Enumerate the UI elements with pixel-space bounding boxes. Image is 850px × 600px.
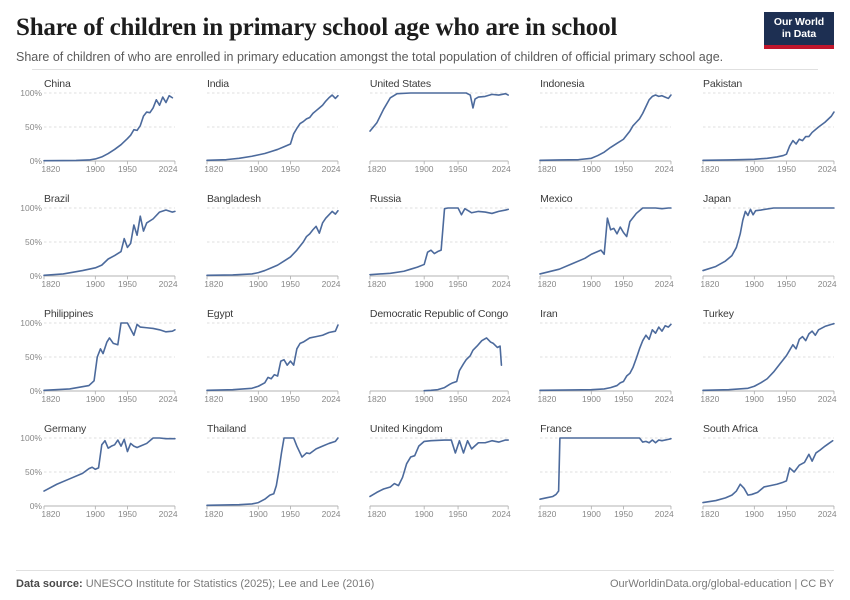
x-tick-label: 1820 [367,394,386,404]
x-tick-label: 1950 [448,164,467,174]
x-tick-label: 1900 [745,509,764,519]
plot-area: 0%50%100% [44,208,175,276]
chart-panel[interactable]: France1820190019502024 [512,423,671,538]
x-tick-label: 2024 [818,164,837,174]
panel-title: United States [370,78,508,90]
data-line [424,338,501,391]
x-tick-label: 1950 [614,394,633,404]
x-tick-label: 1820 [367,279,386,289]
x-tick-label: 1900 [249,509,268,519]
x-tick-label: 1900 [86,164,105,174]
chart-panel[interactable]: Pakistan1820190019502024 [675,78,834,193]
chart-page: Share of children in primary school age … [0,0,850,600]
x-axis-labels: 1820190019502024 [703,508,834,522]
x-tick-label: 2024 [159,279,178,289]
x-axis-labels: 1820190019502024 [540,278,671,292]
data-line [703,208,834,271]
x-tick-label: 1900 [249,279,268,289]
data-line [540,208,671,274]
y-tick-label: 0% [30,501,42,511]
chart-footer: Data source: UNESCO Institute for Statis… [16,570,834,590]
data-line [703,112,834,160]
data-source-text: UNESCO Institute for Statistics (2025); … [83,578,375,590]
chart-panel[interactable]: Democratic Republic of Congo182019001950… [342,308,508,423]
plot-area [370,208,508,276]
y-axis-labels: 0%50%100% [16,208,42,276]
x-tick-label: 2024 [322,394,341,404]
x-tick-label: 2024 [492,394,511,404]
panel-title: Egypt [207,308,338,320]
plot-area [207,438,338,506]
panel-title: Philippines [44,308,175,320]
plot-area [207,93,338,161]
y-tick-label: 100% [20,203,42,213]
data-line [540,438,671,499]
chart-panel[interactable]: United States1820190019502024 [342,78,508,193]
chart-panel[interactable]: Japan1820190019502024 [675,193,834,308]
x-tick-label: 1820 [537,279,556,289]
header-divider [32,69,818,70]
plot-area [540,93,671,161]
x-tick-label: 1820 [41,394,60,404]
x-tick-label: 1950 [448,394,467,404]
logo-line-1: Our World [769,16,829,28]
chart-panel[interactable]: United Kingdom1820190019502024 [342,423,508,538]
panel-title: Japan [703,193,834,205]
data-line [370,208,508,275]
panel-title: Germany [44,423,175,435]
x-axis-labels: 1820190019502024 [44,393,175,407]
x-tick-label: 1900 [415,394,434,404]
x-axis-labels: 1820190019502024 [540,163,671,177]
y-tick-label: 0% [30,271,42,281]
x-tick-label: 1820 [41,279,60,289]
plot-area [703,93,834,161]
x-tick-label: 1950 [777,394,796,404]
x-tick-label: 2024 [818,279,837,289]
y-tick-label: 50% [25,237,42,247]
x-tick-label: 1900 [86,394,105,404]
x-tick-label: 1950 [448,279,467,289]
x-tick-label: 1820 [367,509,386,519]
plot-area [370,438,508,506]
x-tick-label: 1950 [777,164,796,174]
chart-panel[interactable]: Brazil0%50%100%1820190019502024 [16,193,175,308]
x-tick-label: 1900 [415,279,434,289]
x-axis-labels: 1820190019502024 [207,508,338,522]
data-line [370,93,508,131]
x-tick-label: 1900 [582,509,601,519]
x-tick-label: 1820 [537,394,556,404]
x-tick-label: 1950 [118,509,137,519]
x-tick-label: 1900 [582,279,601,289]
data-line [370,440,508,496]
y-tick-label: 0% [30,386,42,396]
x-tick-label: 1900 [415,509,434,519]
data-source-label: Data source: [16,578,83,590]
panel-title: Bangladesh [207,193,338,205]
x-tick-label: 1900 [86,509,105,519]
y-tick-label: 100% [20,88,42,98]
plot-area [370,323,508,391]
x-tick-label: 2024 [655,279,674,289]
x-tick-label: 1820 [700,394,719,404]
panel-title: Indonesia [540,78,671,90]
attribution[interactable]: OurWorldinData.org/global-education | CC… [610,578,834,590]
x-tick-label: 1820 [204,164,223,174]
panel-title: Brazil [44,193,175,205]
y-tick-label: 0% [30,156,42,166]
x-tick-label: 1820 [41,164,60,174]
x-tick-label: 1900 [745,164,764,174]
x-tick-label: 1900 [249,394,268,404]
x-tick-label: 1950 [118,279,137,289]
chart-panel[interactable]: India1820190019502024 [179,78,338,193]
page-title: Share of children in primary school age … [16,14,834,42]
x-tick-label: 2024 [492,164,511,174]
panel-title: United Kingdom [370,423,508,435]
plot-area [703,323,834,391]
x-tick-label: 1950 [118,394,137,404]
x-tick-label: 1820 [204,279,223,289]
x-tick-label: 1820 [41,509,60,519]
chart-panel[interactable]: China0%50%100%1820190019502024 [16,78,175,193]
chart-panel[interactable]: Russia1820190019502024 [342,193,508,308]
x-tick-label: 1900 [745,279,764,289]
x-tick-label: 2024 [492,509,511,519]
y-tick-label: 50% [25,122,42,132]
owid-logo[interactable]: Our World in Data [764,12,834,49]
panel-title: France [540,423,671,435]
data-line [44,210,175,275]
x-tick-label: 1900 [249,164,268,174]
chart-panel[interactable]: Thailand1820190019502024 [179,423,338,538]
x-axis-labels: 1820190019502024 [44,508,175,522]
x-tick-label: 1820 [700,164,719,174]
x-axis-labels: 1820190019502024 [370,163,508,177]
x-tick-label: 1950 [614,164,633,174]
plot-area [540,438,671,506]
x-tick-label: 1950 [281,509,300,519]
x-tick-label: 2024 [818,509,837,519]
x-tick-label: 2024 [159,164,178,174]
y-axis-labels: 0%50%100% [16,93,42,161]
y-tick-label: 50% [25,352,42,362]
chart-header: Share of children in primary school age … [16,0,834,66]
small-multiples-grid: China0%50%100%1820190019502024India18201… [16,78,834,538]
x-tick-label: 1820 [537,164,556,174]
y-axis-labels: 0%50%100% [16,323,42,391]
data-line [207,210,338,275]
x-axis-labels: 1820190019502024 [370,278,508,292]
x-tick-label: 1820 [367,164,386,174]
panel-title: Democratic Republic of Congo [370,308,508,320]
panel-title: South Africa [703,423,834,435]
x-tick-label: 1820 [204,394,223,404]
x-axis-labels: 1820190019502024 [540,508,671,522]
panel-title: Thailand [207,423,338,435]
x-tick-label: 1820 [204,509,223,519]
x-tick-label: 1820 [537,509,556,519]
plot-area [703,208,834,276]
page-subtitle: Share of children of who are enrolled in… [16,49,736,66]
data-line [207,95,338,160]
chart-panel[interactable]: Mexico1820190019502024 [512,193,671,308]
x-tick-label: 1950 [777,279,796,289]
panel-title: India [207,78,338,90]
chart-panel[interactable]: Iran1820190019502024 [512,308,671,423]
panel-title: Turkey [703,308,834,320]
x-axis-labels: 1820190019502024 [370,508,508,522]
x-axis-labels: 1820190019502024 [370,393,508,407]
data-line [44,95,172,160]
chart-panel[interactable]: South Africa1820190019502024 [675,423,834,538]
x-axis-labels: 1820190019502024 [703,278,834,292]
x-axis-labels: 1820190019502024 [703,393,834,407]
chart-panel[interactable]: Philippines0%50%100%1820190019502024 [16,308,175,423]
plot-area [540,208,671,276]
x-tick-label: 1950 [614,509,633,519]
y-tick-label: 100% [20,318,42,328]
panel-title: Pakistan [703,78,834,90]
x-tick-label: 2024 [655,164,674,174]
x-tick-label: 2024 [159,394,178,404]
x-tick-label: 2024 [655,394,674,404]
plot-area [370,93,508,161]
data-line [207,325,338,390]
x-axis-labels: 1820190019502024 [207,163,338,177]
plot-area [207,208,338,276]
x-tick-label: 2024 [159,509,178,519]
plot-area: 0%50%100% [44,438,175,506]
x-tick-label: 2024 [322,164,341,174]
x-axis-labels: 1820190019502024 [44,278,175,292]
panel-title: Iran [540,308,671,320]
x-axis-labels: 1820190019502024 [703,163,834,177]
chart-panel[interactable]: Indonesia1820190019502024 [512,78,671,193]
y-tick-label: 50% [25,467,42,477]
panel-title: Russia [370,193,508,205]
x-tick-label: 2024 [492,279,511,289]
plot-area: 0%50%100% [44,93,175,161]
chart-panel[interactable]: Egypt1820190019502024 [179,308,338,423]
x-tick-label: 2024 [322,279,341,289]
data-source: Data source: UNESCO Institute for Statis… [16,578,374,590]
plot-area [540,323,671,391]
plot-area: 0%50%100% [44,323,175,391]
x-tick-label: 1950 [281,164,300,174]
x-tick-label: 2024 [818,394,837,404]
y-axis-labels: 0%50%100% [16,438,42,506]
y-tick-label: 100% [20,433,42,443]
x-tick-label: 1900 [86,279,105,289]
plot-area [207,323,338,391]
x-tick-label: 1900 [745,394,764,404]
plot-area [703,438,834,506]
x-tick-label: 1900 [582,394,601,404]
x-tick-label: 1950 [118,164,137,174]
x-axis-labels: 1820190019502024 [207,393,338,407]
x-tick-label: 1950 [448,509,467,519]
x-tick-label: 1820 [700,279,719,289]
x-tick-label: 1900 [415,164,434,174]
x-tick-label: 1900 [582,164,601,174]
x-axis-labels: 1820190019502024 [44,163,175,177]
chart-panel[interactable]: Turkey1820190019502024 [675,308,834,423]
panel-title: Mexico [540,193,671,205]
x-tick-label: 1950 [777,509,796,519]
x-axis-labels: 1820190019502024 [207,278,338,292]
x-tick-label: 2024 [655,509,674,519]
panel-title: China [44,78,175,90]
chart-panel[interactable]: Germany0%50%100%1820190019502024 [16,423,175,538]
x-tick-label: 2024 [322,509,341,519]
data-line [540,95,671,160]
x-axis-labels: 1820190019502024 [540,393,671,407]
x-tick-label: 1950 [614,279,633,289]
x-tick-label: 1950 [281,394,300,404]
x-tick-label: 1950 [281,279,300,289]
chart-panel[interactable]: Bangladesh1820190019502024 [179,193,338,308]
logo-line-2: in Data [769,28,829,40]
x-tick-label: 1820 [700,509,719,519]
data-line [44,438,175,491]
